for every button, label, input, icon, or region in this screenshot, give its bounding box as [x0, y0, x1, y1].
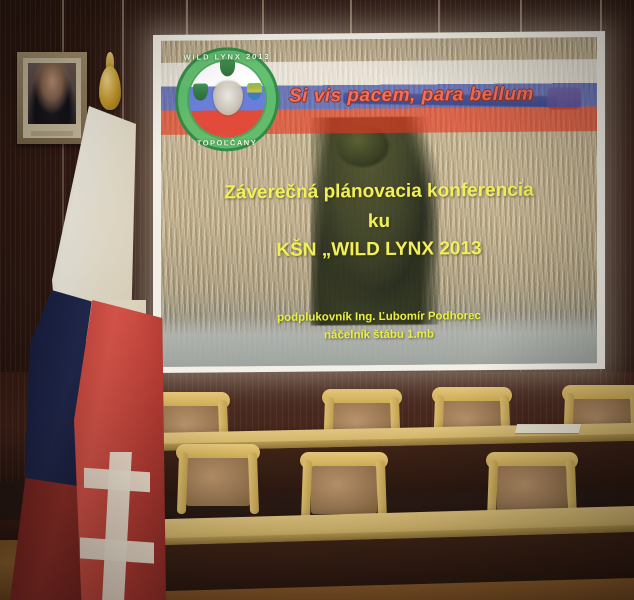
slide-title: Záverečná plánovacia konferencia: [161, 179, 597, 205]
paper-sheet: [515, 424, 581, 433]
slide-subtitle: KŠN „WILD LYNX 2013: [161, 237, 597, 263]
chair-seat-pad: [311, 466, 378, 514]
chair-seat-pad: [497, 466, 567, 514]
slide-connector: ku: [161, 209, 597, 235]
chair-front-1: [176, 444, 260, 520]
emblem-ring-top-text: WILD LYNX 2013: [175, 52, 279, 62]
conference-room-photo: Si vis pacem, para bellum WILD LYNX 2013…: [0, 0, 634, 600]
slide-motto: Si vis pacem, para bellum: [289, 83, 589, 108]
chair-seat-pad: [186, 458, 250, 506]
portrait-nameplate: [31, 131, 73, 136]
projection-screen: Si vis pacem, para bellum WILD LYNX 2013…: [153, 31, 605, 373]
emblem-ring-bottom-text: TOPOĽČANY: [175, 138, 279, 148]
framed-portrait: [17, 52, 87, 144]
chair-leg: [248, 452, 259, 514]
portrait-photo: [28, 63, 76, 124]
chair-leg: [301, 460, 312, 522]
presentation-slide: Si vis pacem, para bellum WILD LYNX 2013…: [161, 37, 597, 367]
wild-lynx-emblem: WILD LYNX 2013 TOPOĽČANY: [175, 47, 279, 152]
